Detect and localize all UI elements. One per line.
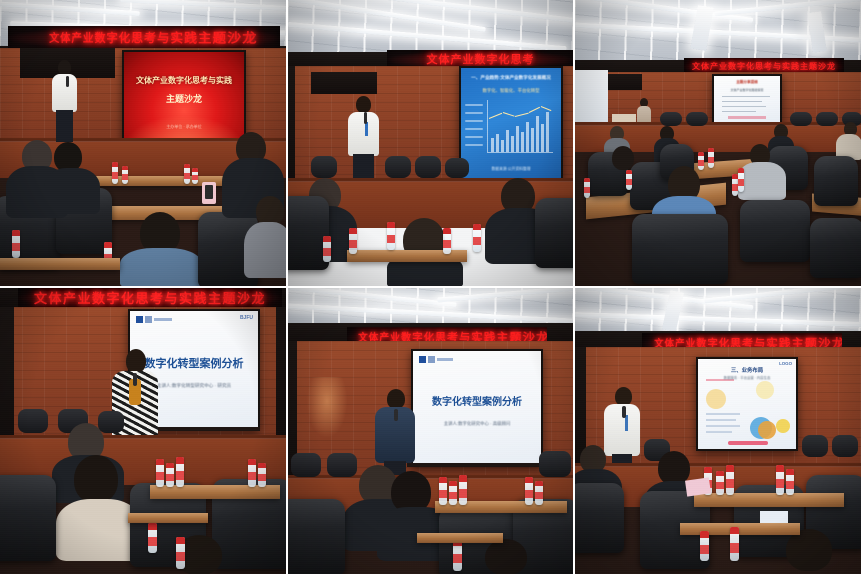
slide-subtitle: 文体产业数字化路径探索 bbox=[714, 88, 780, 92]
speaker bbox=[50, 60, 80, 142]
slide-title: 数字化转型案例分析 bbox=[413, 393, 541, 408]
ceiling bbox=[287, 287, 574, 327]
slide-subtitle: 主讲人:数字化研究中心 · 高级顾问 bbox=[413, 421, 541, 427]
brand-logo bbox=[136, 316, 172, 323]
projection-screen: LOGO 三、业务布局 数据服务 · 平台运营 · 内容生态 bbox=[696, 357, 798, 451]
projection-screen: 一、产业趋势:文体产业数字化发展概况 数字化、智能化、平台化转型 bbox=[459, 66, 563, 180]
panel-seam-horizontal bbox=[0, 286, 861, 288]
slide-footer: 数据来源:公开资料整理 bbox=[461, 167, 561, 172]
projection-screen: 主题分享提纲 文体产业数字化路径探索 bbox=[712, 74, 782, 124]
slide-footer: 主办单位 · 承办单位 bbox=[124, 124, 244, 130]
projection-screen: BJFU 数字化转型案例分析 主讲人:数字化研究中心 · 高级顾问 bbox=[411, 349, 543, 467]
photo-panel-1: 文体产业数字化思考与实践主题沙龙 文体产业数字化思考与实践 主题沙龙 主办单位 … bbox=[0, 0, 287, 287]
slide-title: 主题分享提纲 bbox=[714, 80, 780, 85]
ceiling bbox=[574, 0, 861, 66]
photo-panel-4: 文体产业数字化思考与实践主题沙龙 BJFU 数字化转型案例分析 主讲人:数字化转… bbox=[0, 287, 287, 574]
projection-screen: 文体产业数字化思考与实践 主题沙龙 主办单位 · 承办单位 bbox=[122, 50, 246, 149]
slide-subtitle: 数据服务 · 平台运营 · 内容生态 bbox=[698, 375, 796, 380]
slide-title: 三、业务布局 bbox=[698, 366, 796, 374]
photo-panel-2: 文体产业数字化思考 一、产业趋势:文体产业数字化发展概况 数字化、智能化、平台化… bbox=[287, 0, 574, 287]
slide-title: 一、产业趋势:文体产业数字化发展概况 bbox=[461, 75, 561, 81]
slide-subtitle: 数字化、智能化、平台化转型 bbox=[461, 88, 561, 94]
led-banner-text: 文体产业数字化思考与实践主题沙龙 bbox=[49, 28, 258, 47]
slide-subtitle: 主题沙龙 bbox=[124, 92, 244, 105]
slide-title: 文体产业数字化思考与实践 bbox=[124, 75, 244, 86]
ceiling bbox=[574, 287, 861, 335]
photo-panel-3: 文体产业数字化思考与实践主题沙龙 主题分享提纲 文体产业数字化路径探索 bbox=[574, 0, 861, 287]
photo-panel-6: 文体产业数字化思考与实践主题沙龙 LOGO 三、业务布局 数据服务 · 平台运营… bbox=[574, 287, 861, 574]
photo-collage: 文体产业数字化思考与实践主题沙龙 文体产业数字化思考与实践 主题沙龙 主办单位 … bbox=[0, 0, 861, 574]
photo-panel-5: 文体产业数字化思考与实践主题沙龙 BJFU 数字化转型案例分析 主讲人:数字化研… bbox=[287, 287, 574, 574]
led-banner: 文体产业数字化思考与实践主题沙龙 bbox=[8, 26, 280, 48]
led-banner: 文体产业数字化思考与实践主题沙龙 bbox=[18, 287, 282, 307]
brand-logo bbox=[419, 356, 453, 363]
